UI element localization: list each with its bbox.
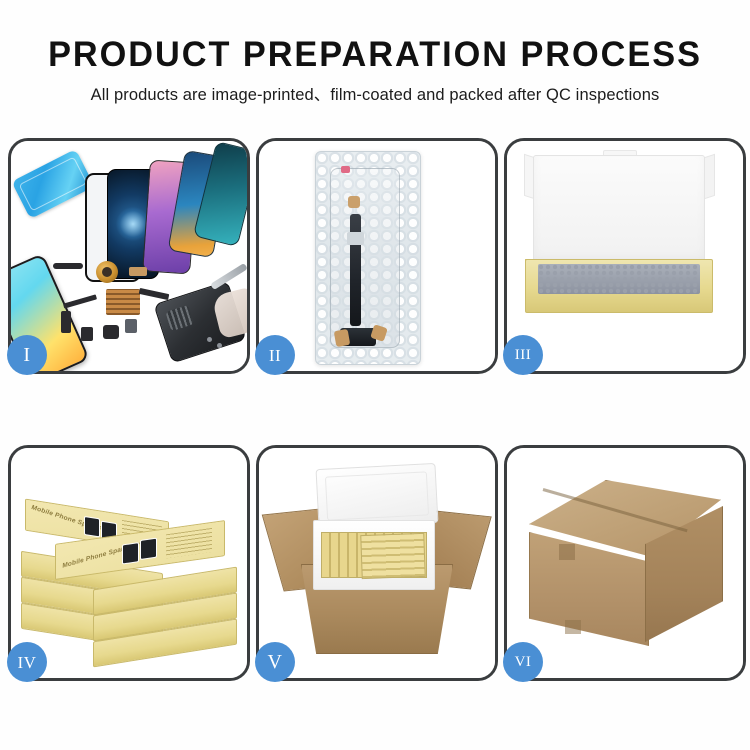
flex-cable-part-1 xyxy=(63,294,97,308)
step-image-4: Mobile Phone Spare Parts Mobile Phone Sp… xyxy=(11,448,247,678)
step-badge-3: III xyxy=(503,335,543,375)
gold-tape-top xyxy=(348,196,360,208)
steps-grid: I II xyxy=(0,138,750,696)
bubble-wrap-bag xyxy=(315,151,421,365)
step-image-2 xyxy=(259,141,495,371)
step-panel-4: Mobile Phone Spare Parts Mobile Phone Sp… xyxy=(8,445,250,681)
step-numeral-2: II xyxy=(269,347,281,364)
copper-chip-part xyxy=(106,289,140,315)
step-panel-2: II xyxy=(256,138,498,374)
step-badge-2: II xyxy=(255,335,295,375)
screw-part-1 xyxy=(207,337,212,342)
screen-flex-cable xyxy=(350,214,361,326)
small-component-1 xyxy=(81,327,93,341)
box-screen-thumb-right-2 xyxy=(140,538,157,560)
white-box-lid xyxy=(533,155,705,265)
step-numeral-6: VI xyxy=(515,655,532,670)
step-numeral-1: I xyxy=(23,345,30,365)
step-image-3 xyxy=(507,141,743,371)
speaker-coil-part xyxy=(96,261,118,283)
gold-contact-part xyxy=(129,267,147,276)
page-subtitle: All products are image-printed、film-coat… xyxy=(0,84,750,106)
step-numeral-5: V xyxy=(268,652,283,672)
step-badge-4: IV xyxy=(7,642,47,682)
step-image-6 xyxy=(507,448,743,678)
speaker-grille-part xyxy=(53,263,83,269)
wrapped-screen xyxy=(330,168,400,348)
box-screen-thumb-right-1 xyxy=(122,542,139,564)
packed-yellow-boxes-stack xyxy=(360,533,425,579)
small-component-2 xyxy=(125,319,137,333)
grey-foam-padding xyxy=(538,264,700,294)
step-badge-5: V xyxy=(255,642,295,682)
step-numeral-4: IV xyxy=(18,654,37,671)
carton-tape-patch-bottom xyxy=(565,620,581,634)
step-image-1 xyxy=(11,141,247,371)
step-panel-3: III xyxy=(504,138,746,374)
step-badge-6: VI xyxy=(503,642,543,682)
step-badge-1: I xyxy=(7,335,47,375)
pink-label-dot xyxy=(341,166,350,173)
step-panel-5: V xyxy=(256,445,498,681)
header: PRODUCT PREPARATION PROCESS All products… xyxy=(0,0,750,122)
product-preparation-infographic: PRODUCT PREPARATION PROCESS All products… xyxy=(0,0,750,750)
carton-tape-patch-top xyxy=(559,544,575,560)
flex-cable-part-3 xyxy=(139,288,170,300)
flex-cable-part-2 xyxy=(61,311,71,333)
yellow-box-tray xyxy=(525,259,713,313)
step-panel-6: VI xyxy=(504,445,746,681)
yellow-box-stack: Mobile Phone Spare Parts Mobile Phone Sp… xyxy=(21,466,237,662)
phone-screen-blue xyxy=(11,149,94,219)
box-screen-thumb-left-1 xyxy=(84,516,100,538)
step-numeral-3: III xyxy=(515,348,532,363)
page-title: PRODUCT PREPARATION PROCESS xyxy=(8,34,743,76)
camera-module-part xyxy=(103,325,119,339)
step-image-5 xyxy=(259,448,495,678)
screw-part-2 xyxy=(217,343,222,348)
step-panel-1: I xyxy=(8,138,250,374)
gold-tape-left xyxy=(334,329,351,347)
